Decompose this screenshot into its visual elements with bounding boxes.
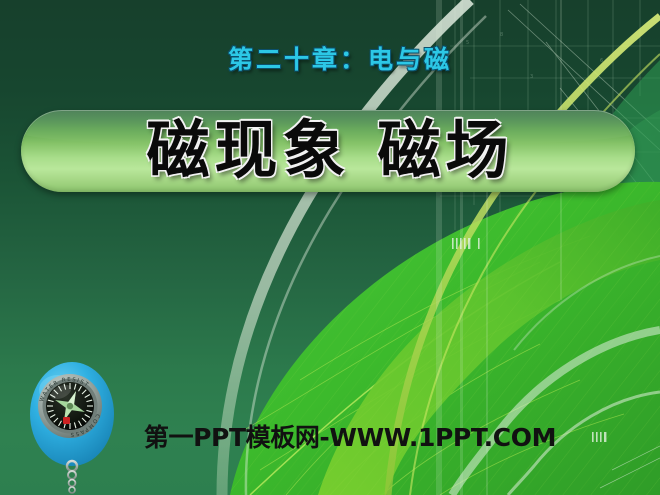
slide-canvas: 5 8 3 2 6 4 9 xyxy=(0,0,660,495)
svg-text:8: 8 xyxy=(500,32,503,38)
page-title: 磁现象 磁场 xyxy=(0,105,660,197)
compass-red-marker xyxy=(63,417,70,424)
compass-illustration: WATER RESIST COMPASS xyxy=(25,358,120,495)
chapter-label: 第二十章：电与磁 xyxy=(0,40,660,76)
